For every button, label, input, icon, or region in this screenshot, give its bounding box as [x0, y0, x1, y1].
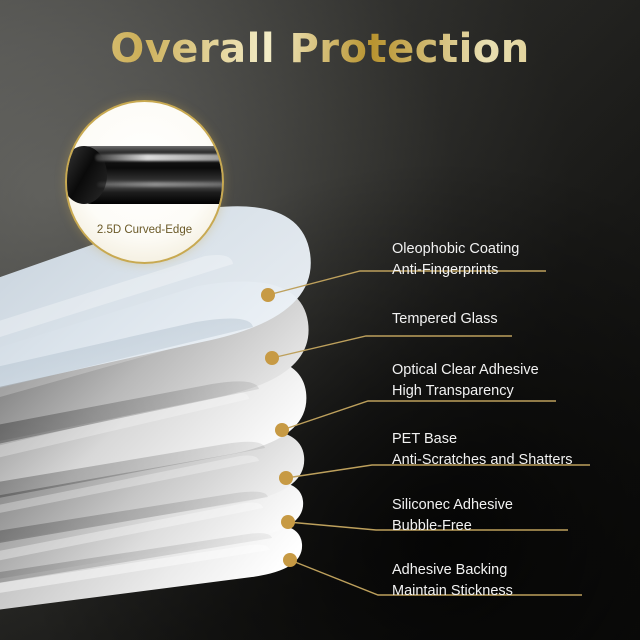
- callout-line1: Optical Clear Adhesive: [392, 361, 539, 382]
- callout-line2: Bubble-Free: [392, 517, 513, 538]
- callout-line2: Maintain Stickness: [392, 582, 513, 603]
- inset-caption: 2.5D Curved-Edge: [67, 224, 222, 236]
- glass-highlight-bottom: [97, 182, 224, 187]
- callout-optical-clear-adhesive: Optical Clear Adhesive High Transparency: [392, 361, 539, 403]
- callout-line2: Anti-Fingerprints: [392, 261, 519, 282]
- page-title: Overall Protection: [0, 26, 640, 72]
- callout-line1: Siliconec Adhesive: [392, 496, 513, 517]
- layer-stack-diagram: [0, 0, 640, 640]
- callout-siliconec-adhesive: Siliconec Adhesive Bubble-Free: [392, 496, 513, 538]
- callout-line1: Oleophobic Coating: [392, 240, 519, 261]
- callout-line2: High Transparency: [392, 382, 539, 403]
- callout-tempered-glass: Tempered Glass: [392, 310, 498, 331]
- callout-line2: Anti-Scratches and Shatters: [392, 451, 573, 472]
- curved-edge-inset: 2.5D Curved-Edge: [65, 100, 224, 264]
- callout-line1: Tempered Glass: [392, 310, 498, 331]
- callout-adhesive-backing: Adhesive Backing Maintain Stickness: [392, 561, 513, 603]
- callout-line1: Adhesive Backing: [392, 561, 513, 582]
- product-infographic: Overall Protection 2.5D Curved-Edge: [0, 0, 640, 640]
- callout-line1: PET Base: [392, 430, 573, 451]
- callout-pet-base: PET Base Anti-Scratches and Shatters: [392, 430, 573, 472]
- glass-highlight-top: [95, 154, 224, 161]
- callout-oleophobic-coating: Oleophobic Coating Anti-Fingerprints: [392, 240, 519, 282]
